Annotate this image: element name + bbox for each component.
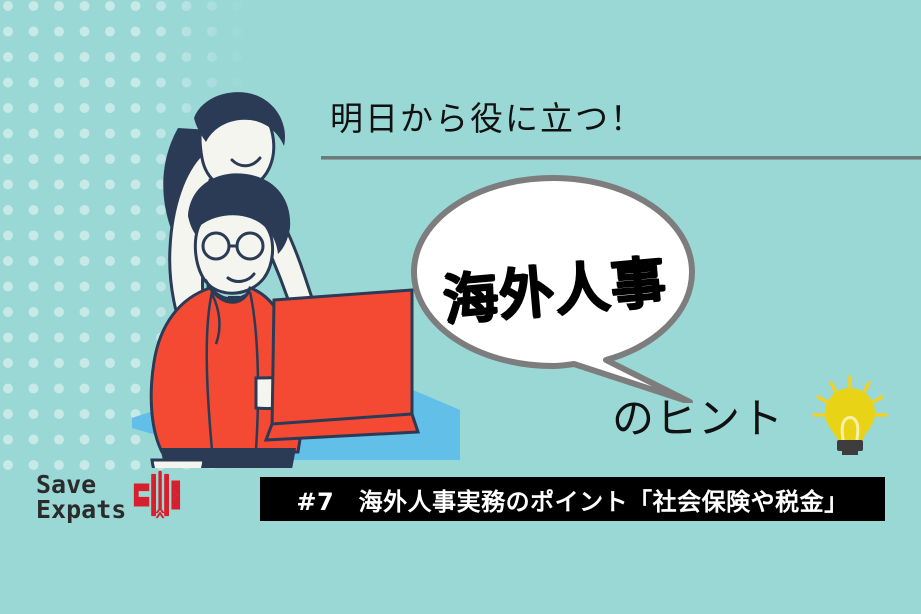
lightbulb-glass <box>825 388 875 443</box>
logo-line-2: Expats <box>36 497 126 523</box>
save-expats-mark-icon <box>130 468 182 527</box>
page-headline: 明日から役に立つ！ <box>330 92 645 140</box>
save-expats-logo[interactable]: Save Expats <box>36 466 201 528</box>
lightbulb-base <box>837 440 863 451</box>
speech-bubble: 海外人事 <box>398 168 708 403</box>
logo-line-1: Save <box>36 472 126 498</box>
headline-divider <box>321 156 921 160</box>
episode-title-text: #7 海外人事実務のポイント「社会保険や税金」 <box>296 482 848 517</box>
red-laptop-body <box>272 290 412 430</box>
lightbulb-icon <box>808 373 892 457</box>
man-glasses-left-lens <box>203 233 229 259</box>
episode-title-bar: #7 海外人事実務のポイント「社会保険や税金」 <box>260 477 885 521</box>
man-glasses-right-lens <box>237 233 263 259</box>
page-subheadline: のヒント <box>612 385 784 446</box>
poster-canvas: 明日から役に立つ！ 海外人事 のヒント #7 海 <box>0 0 921 614</box>
logo-wordmark: Save Expats <box>36 472 126 523</box>
